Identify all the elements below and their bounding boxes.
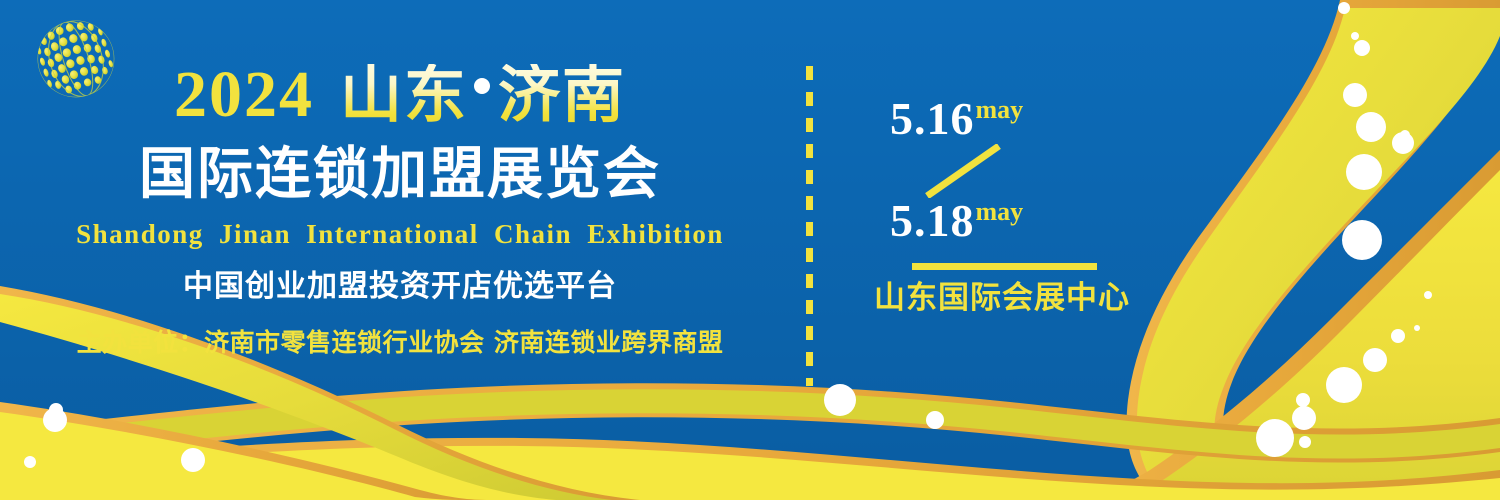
event-organizer: 主办单位：济南市零售连锁行业协会 济南连锁业跨界商盟 xyxy=(77,330,724,355)
banner-content: 2024 山东济南 国际连锁加盟展览会 Shandong Jinan Inter… xyxy=(0,0,800,420)
location-city: 济南 xyxy=(498,58,626,131)
event-title-main: 国际连锁加盟展览会 xyxy=(139,146,661,202)
end-month: may xyxy=(976,197,1024,226)
location-province: 山东 xyxy=(340,58,468,131)
date-underline-bar xyxy=(912,263,1097,270)
start-month: may xyxy=(976,95,1024,124)
event-start-date: 5.16may xyxy=(890,96,1023,142)
event-venue: 山东国际会展中心 xyxy=(862,278,1142,318)
event-date-block: 5.16may 5.18may 山东国际会展中心 xyxy=(862,96,1162,326)
event-slogan: 中国创业加盟投资开店优选平台 xyxy=(183,272,617,302)
location-separator-dot xyxy=(474,78,490,94)
date-range-slash-icon xyxy=(924,144,1002,198)
title-row: 2024 山东济南 xyxy=(174,62,626,128)
start-day: 5.16 xyxy=(890,93,975,144)
event-end-date: 5.18may xyxy=(890,198,1023,244)
event-location: 山东济南 xyxy=(340,64,626,126)
event-year: 2024 xyxy=(174,62,314,128)
event-banner: 2024 山东济南 国际连锁加盟展览会 Shandong Jinan Inter… xyxy=(0,0,1500,500)
end-day: 5.18 xyxy=(890,195,975,246)
dashed-vertical-divider xyxy=(806,66,813,386)
event-title-english: Shandong Jinan International Chain Exhib… xyxy=(76,219,724,250)
